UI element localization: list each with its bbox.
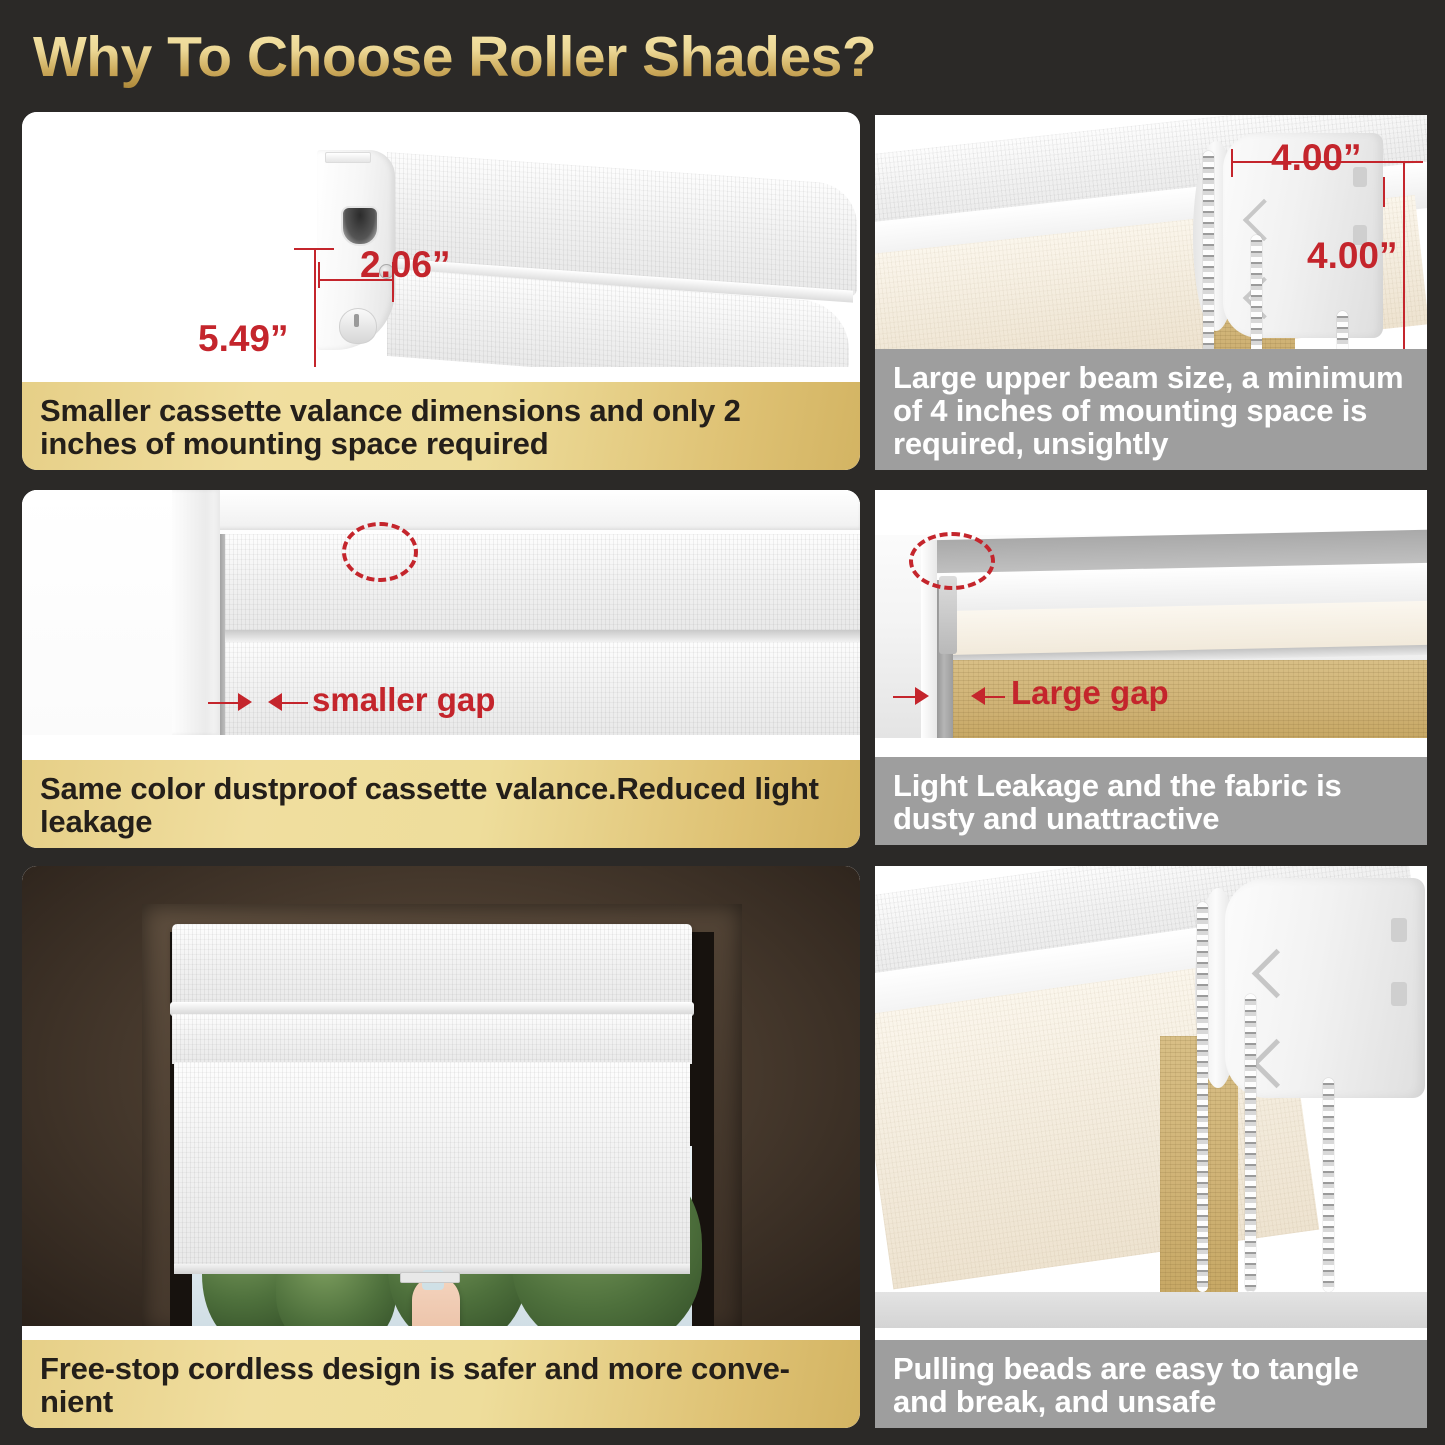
panel-2-image: 4.00” 4.00” [875, 115, 1427, 363]
smaller-gap-label: smaller gap [312, 681, 495, 719]
panel-4-image: Large gap [875, 490, 1427, 738]
beam-height-label: 4.00” [1307, 235, 1398, 277]
window-frame-top [172, 490, 860, 530]
bead-chain-mid [1245, 994, 1256, 1292]
shade-pull-tab [400, 1272, 460, 1283]
end-cap-knob [339, 308, 377, 344]
panel-6-caption: Pulling beads are easy to tangle and bre… [875, 1340, 1427, 1428]
panel-6-image [875, 866, 1427, 1328]
panel-3-image: smaller gap [22, 490, 860, 735]
infographic-page: Why To Choose Roller Shades? 5.49” [0, 0, 1445, 1445]
page-title: Why To Choose Roller Shades? [33, 24, 876, 90]
panel-1-image: 5.49” 2.06” [22, 112, 860, 367]
panel-5-image [22, 866, 860, 1326]
height-dimension-label: 5.49” [198, 318, 289, 360]
panel-1-caption: Smaller cassette valance dimensions and … [22, 382, 860, 470]
gap-highlight-circle [342, 522, 418, 582]
valance-lower-face [172, 1014, 692, 1064]
shade-fabric [174, 1062, 690, 1268]
valance-face [225, 534, 860, 630]
bead-chain-left [1203, 151, 1214, 363]
gap-highlight-circle [909, 532, 995, 590]
panel-smaller-cassette: 5.49” 2.06” Smaller cassette valance dim… [22, 112, 860, 470]
panel-4-caption: Light Leakage and the fabric is dusty an… [875, 757, 1427, 845]
panel-3-caption: Same color dustproof cassette valance.Re… [22, 760, 860, 848]
bead-chain-mid [1251, 235, 1262, 363]
valance-rail [225, 630, 860, 642]
large-gap-label: Large gap [1011, 674, 1169, 712]
end-cap-tab [325, 152, 371, 163]
window-frame-left [172, 490, 220, 735]
panel-2-caption: Large upper beam size, a minimum of 4 in… [875, 349, 1427, 470]
panel-cordless-design: Free-stop cordless design is safer and m… [22, 866, 860, 1428]
wall-top [875, 490, 1427, 535]
end-cap-slot [341, 206, 379, 246]
bead-chain-right [1323, 1078, 1334, 1292]
floor-shadow [875, 1292, 1427, 1328]
width-dimension-label: 2.06” [360, 244, 451, 286]
panel-pull-beads: Pulling beads are easy to tangle and bre… [875, 866, 1427, 1428]
bead-chain-left [1197, 902, 1208, 1292]
cassette-valance [172, 924, 692, 1006]
panel-5-caption: Free-stop cordless design is safer and m… [22, 1340, 860, 1428]
panel-large-beam: 4.00” 4.00” Large upper beam size, a min… [875, 115, 1427, 470]
panel-light-leakage: Large gap Light Leakage and the fabric i… [875, 490, 1427, 845]
panel-dustproof-valance: smaller gap Same color dustproof cassett… [22, 490, 860, 848]
beam-width-label: 4.00” [1271, 137, 1362, 179]
